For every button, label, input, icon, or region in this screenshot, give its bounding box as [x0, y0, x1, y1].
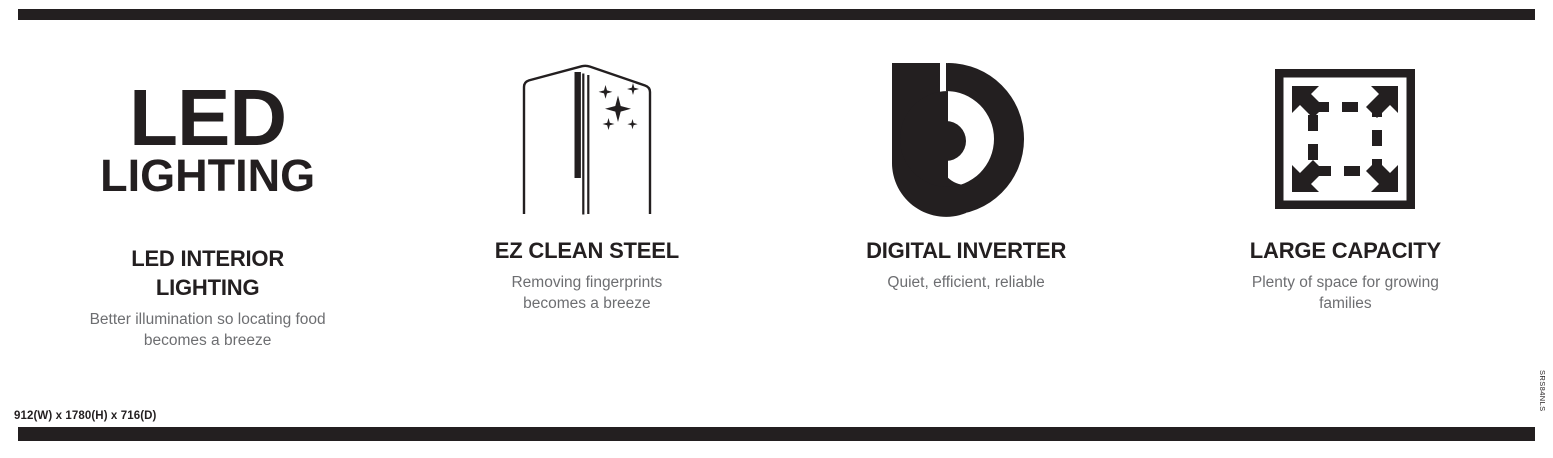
top-divider-rule: [18, 9, 1535, 20]
feature-title: EZ CLEAN STEEL: [495, 236, 679, 265]
feature-subtitle: Removing fingerprints becomes a breeze: [487, 273, 687, 314]
feature-large-capacity: LARGE CAPACITY Plenty of space for growi…: [1156, 56, 1535, 314]
refrigerator-sparkle-icon: [512, 56, 662, 222]
bottom-divider-rule: [18, 427, 1535, 441]
feature-title: LED INTERIOR LIGHTING: [100, 244, 315, 302]
digital-inverter-logo-icon: [890, 56, 1042, 222]
feature-digital-inverter: DIGITAL INVERTER Quiet, efficient, relia…: [777, 56, 1156, 294]
product-dimensions-text: 912(W) x 1780(H) x 716(D): [14, 410, 156, 422]
feature-led-interior-lighting: LED LIGHTING LED INTERIOR LIGHTING Bette…: [18, 56, 397, 351]
feature-title: LARGE CAPACITY: [1250, 236, 1441, 265]
model-code-vertical-text: SRS84NLS: [1538, 370, 1547, 412]
feature-title: DIGITAL INVERTER: [866, 236, 1066, 265]
product-feature-banner: LED LIGHTING LED INTERIOR LIGHTING Bette…: [0, 0, 1553, 458]
led-lighting-wordmark-icon: LED LIGHTING: [100, 56, 315, 222]
feature-ez-clean-steel: EZ CLEAN STEEL Removing fingerprints bec…: [397, 56, 776, 314]
led-wordmark-line2: LIGHTING: [100, 155, 315, 197]
led-wordmark-line1: LED: [129, 80, 286, 155]
feature-subtitle: Quiet, efficient, reliable: [887, 273, 1044, 294]
feature-subtitle: Better illumination so locating food bec…: [88, 310, 328, 351]
feature-list: LED LIGHTING LED INTERIOR LIGHTING Bette…: [18, 56, 1535, 351]
feature-subtitle: Plenty of space for growing families: [1250, 273, 1440, 314]
expand-arrows-square-icon: [1275, 56, 1415, 222]
